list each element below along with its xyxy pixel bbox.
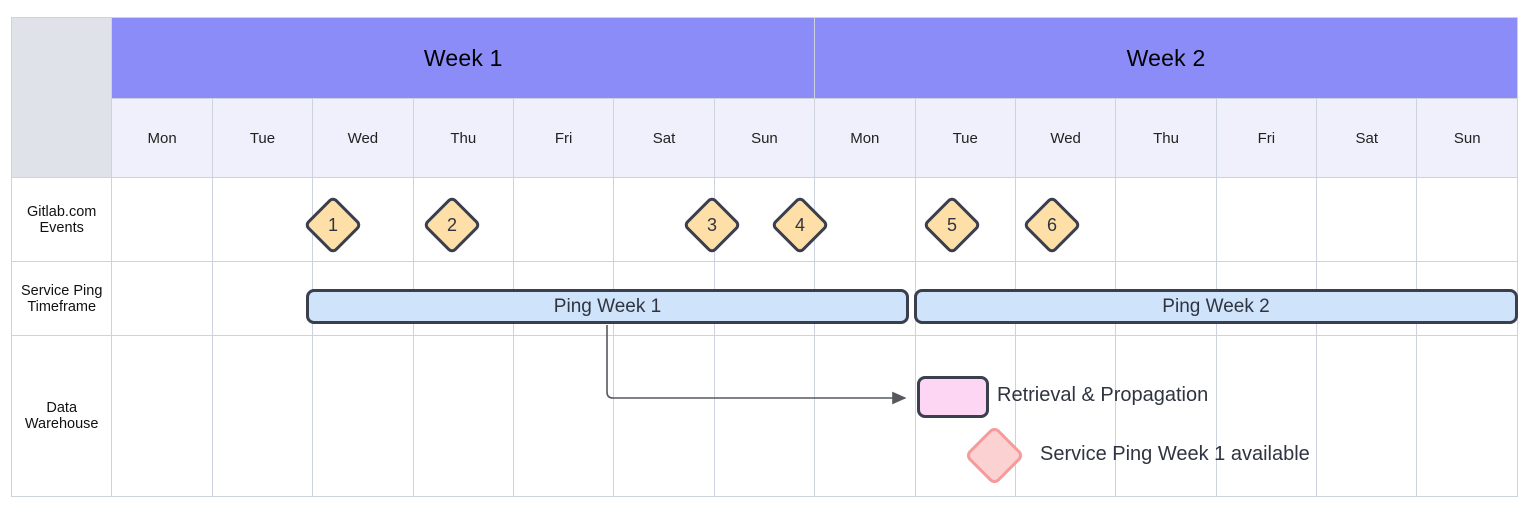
event-diamond-3-label: 3 xyxy=(694,207,730,243)
ping-bar-week-2[interactable]: Ping Week 2 xyxy=(914,289,1518,324)
ping-bar-week-1-label: Ping Week 1 xyxy=(554,296,661,318)
service-ping-available-label: Service Ping Week 1 available xyxy=(1040,443,1310,466)
event-diamond-4-label: 4 xyxy=(782,207,818,243)
ping-bar-week-1[interactable]: Ping Week 1 xyxy=(306,289,909,324)
event-diamond-6-label: 6 xyxy=(1034,207,1070,243)
event-diamond-5-label: 5 xyxy=(934,207,970,243)
connector-arrow-ping-to-retrieval xyxy=(0,0,1530,506)
event-diamond-2-label: 2 xyxy=(434,207,470,243)
retrieval-propagation-box[interactable] xyxy=(917,376,989,418)
overlay-layer: 1 2 3 4 5 6 Ping Week 1 Ping Week 2 Retr… xyxy=(0,0,1530,506)
diagram-canvas: Week 1 Week 2 Mon Tue Wed Thu Fri Sat Su… xyxy=(0,0,1530,506)
event-diamond-1-label: 1 xyxy=(315,207,351,243)
ping-bar-week-2-label: Ping Week 2 xyxy=(1162,296,1269,318)
retrieval-propagation-label: Retrieval & Propagation xyxy=(997,384,1208,407)
